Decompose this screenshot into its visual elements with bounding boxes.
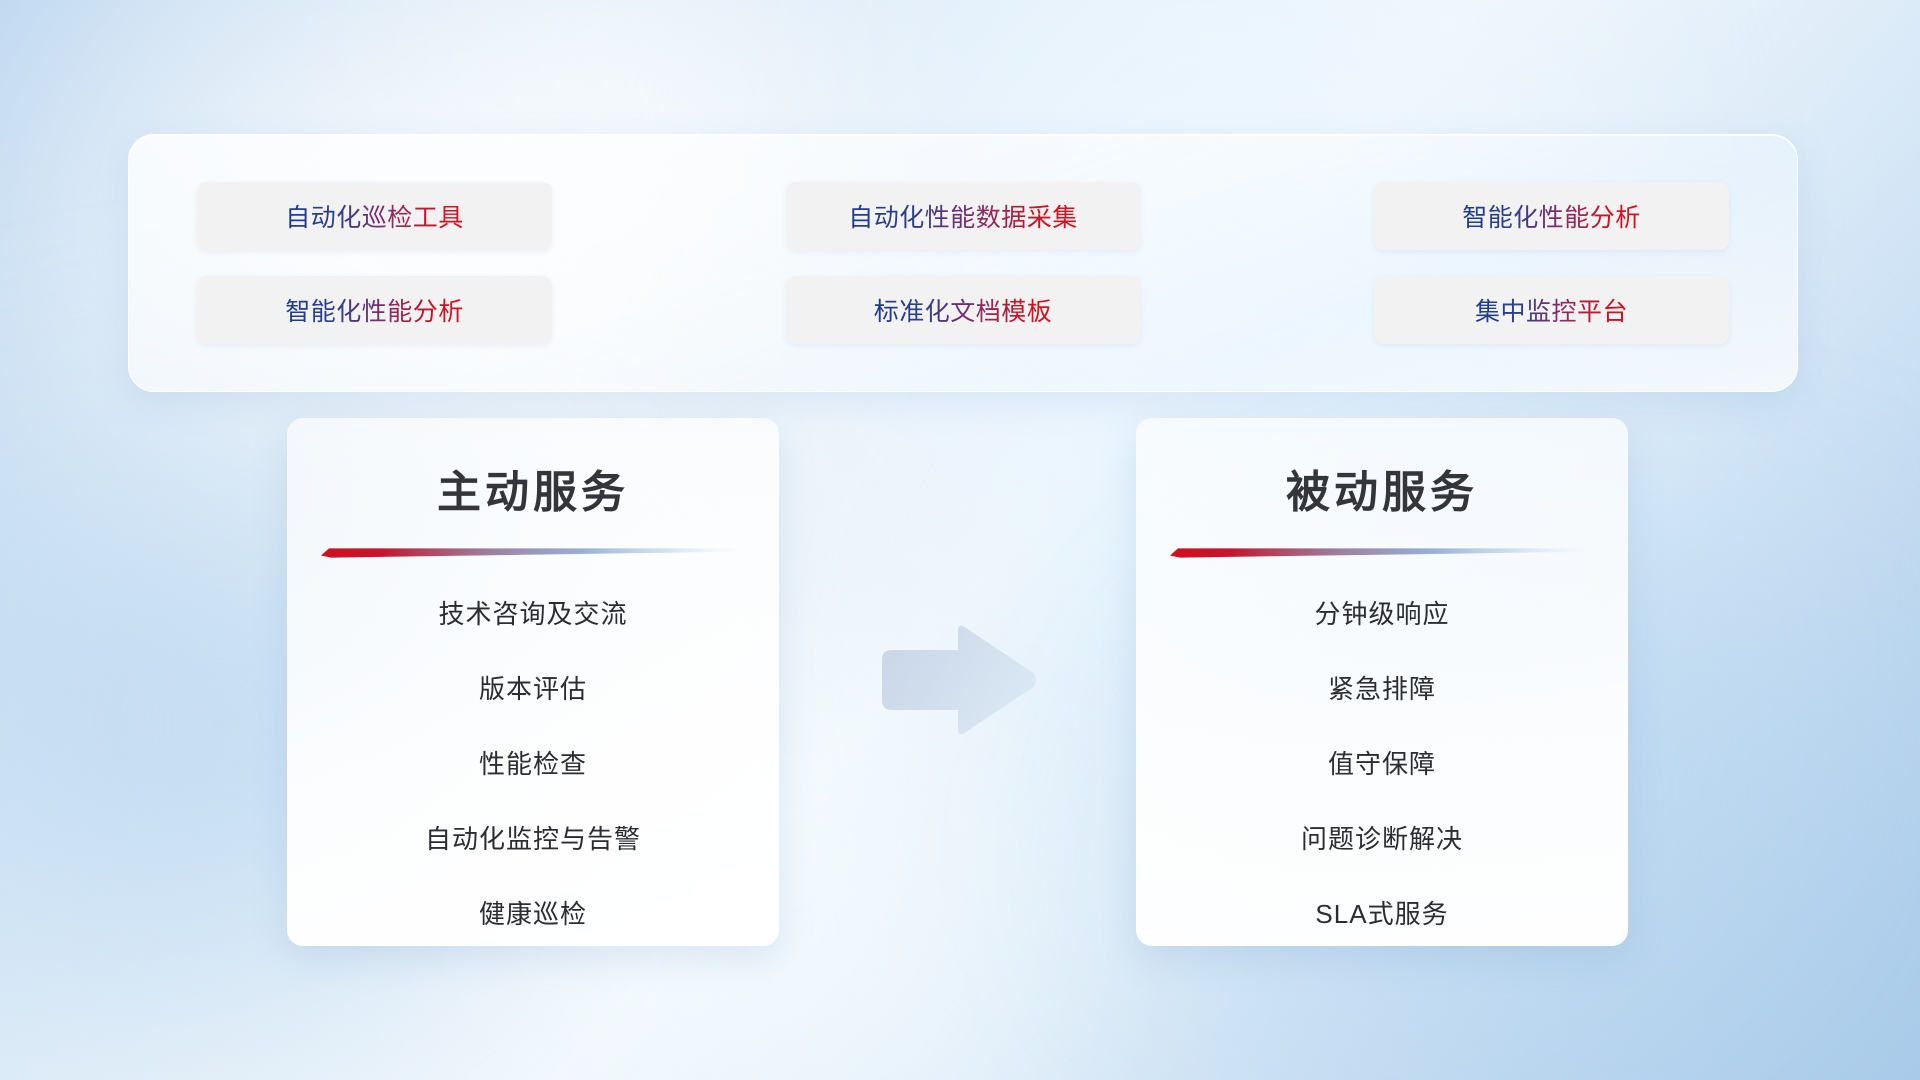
card-title: 被动服务 [1136, 418, 1628, 520]
capability-pill[interactable]: 集中监控平台 [1374, 276, 1729, 344]
capability-pill[interactable]: 智能化性能分析 [1374, 182, 1729, 250]
card-list-item: 版本评估 [479, 669, 587, 706]
capability-row: 智能化性能分析 标准化文档模板 集中监控平台 [197, 276, 1729, 344]
service-card-proactive: 主动服务 技术咨询及交流 版本评估 性能检查 [287, 418, 779, 946]
card-list-item: SLA式服务 [1315, 894, 1448, 931]
capability-row: 自动化巡检工具 自动化性能数据采集 智能化性能分析 [197, 182, 1729, 250]
card-list-item: 问题诊断解决 [1301, 819, 1463, 856]
card-list-item: 健康巡检 [479, 894, 587, 931]
capability-pill-label: 智能化性能分析 [1462, 198, 1641, 234]
capabilities-panel: 自动化巡检工具 自动化性能数据采集 智能化性能分析 智能化性能分析 标准化文档模… [128, 134, 1798, 392]
card-list-item: 性能检查 [479, 744, 587, 781]
capability-pill-label: 自动化性能数据采集 [848, 198, 1078, 234]
capability-pill[interactable]: 自动化巡检工具 [197, 182, 552, 250]
card-item-list: 分钟级响应 紧急排障 值守保障 问题诊断解决 SLA式服务 [1136, 558, 1628, 931]
card-title: 主动服务 [287, 418, 779, 520]
card-item-list: 技术咨询及交流 版本评估 性能检查 自动化监控与告警 健康巡检 [287, 558, 779, 931]
capability-pill[interactable]: 标准化文档模板 [786, 276, 1141, 344]
card-list-item: 值守保障 [1328, 744, 1436, 781]
capability-pill[interactable]: 自动化性能数据采集 [786, 182, 1141, 250]
card-list-item: 分钟级响应 [1314, 594, 1449, 631]
card-list-item: 自动化监控与告警 [425, 819, 641, 856]
capability-pill-label: 自动化巡检工具 [285, 198, 464, 234]
title-divider [1170, 546, 1594, 558]
arrow-right-icon [872, 620, 1040, 740]
service-card-reactive: 被动服务 分钟级响应 紧急排障 值守保障 [1136, 418, 1628, 946]
card-list-item: 紧急排障 [1328, 669, 1436, 706]
capability-pill-label: 标准化文档模板 [874, 292, 1053, 328]
capability-pill-label: 智能化性能分析 [285, 292, 464, 328]
title-divider [321, 546, 745, 558]
capability-pill-label: 集中监控平台 [1475, 292, 1628, 328]
capability-pill[interactable]: 智能化性能分析 [197, 276, 552, 344]
card-list-item: 技术咨询及交流 [438, 594, 627, 631]
